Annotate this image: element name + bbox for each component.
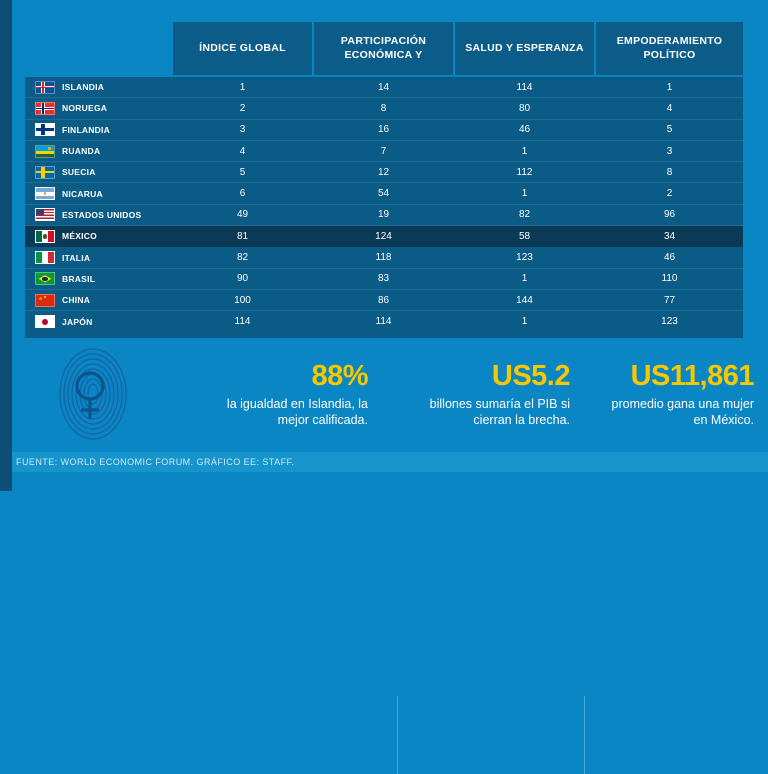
country-cell: SUECIA (35, 162, 96, 182)
country-cell: MÉXICO (35, 226, 97, 246)
value-empoderamiento-politico: 46 (596, 247, 743, 267)
country-name: ITALIA (62, 253, 90, 263)
value-indice-global: 100 (173, 290, 312, 310)
mexico-flag (35, 230, 55, 243)
value-indice-global: 5 (173, 162, 312, 182)
value-indice-global: 2 (173, 98, 312, 118)
value-indice-global: 81 (173, 226, 312, 246)
value-participacion-economica: 54 (314, 183, 453, 203)
value-empoderamiento-politico: 2 (596, 183, 743, 203)
value-salud-esperanza: 1 (455, 311, 594, 332)
value-salud-esperanza: 1 (455, 183, 594, 203)
country-name: ESTADOS UNIDOS (62, 210, 141, 220)
table-row[interactable]: NICARUA65412 (25, 183, 743, 204)
country-name: MÉXICO (62, 231, 97, 241)
country-cell: RUANDA (35, 141, 100, 161)
table-body: ISLANDIA1141141NORUEGA28804FINLANDIA3164… (25, 77, 743, 338)
value-empoderamiento-politico: 1 (596, 77, 743, 97)
value-participacion-economica: 7 (314, 141, 453, 161)
value-participacion-economica: 118 (314, 247, 453, 267)
column-header-indice-global: ÍNDICE GLOBAL (173, 22, 312, 75)
value-empoderamiento-politico: 34 (596, 226, 743, 246)
country-cell: JAPÓN (35, 311, 93, 332)
value-empoderamiento-politico: 123 (596, 311, 743, 332)
ranking-table: ÍNDICE GLOBAL PARTICIPACIÓN ECONÓMICA Y … (25, 22, 743, 338)
value-empoderamiento-politico: 8 (596, 162, 743, 182)
source-credit: FUENTE: WORLD ECONOMIC FORUM. GRÁFICO EE… (12, 457, 294, 467)
brazil-flag (35, 272, 55, 285)
value-participacion-economica: 8 (314, 98, 453, 118)
value-participacion-economica: 12 (314, 162, 453, 182)
left-accent-stripe (0, 0, 12, 491)
table-row[interactable]: MÉXICO811245834 (25, 226, 743, 247)
value-participacion-economica: 14 (314, 77, 453, 97)
table-row[interactable]: ESTADOS UNIDOS49198296 (25, 205, 743, 226)
table-row[interactable]: ITALIA8211812346 (25, 247, 743, 268)
table-row[interactable]: SUECIA5121128 (25, 162, 743, 183)
value-empoderamiento-politico: 5 (596, 120, 743, 140)
stat-divider-2 (584, 696, 585, 774)
value-salud-esperanza: 123 (455, 247, 594, 267)
value-salud-esperanza: 112 (455, 162, 594, 182)
country-name: RUANDA (62, 146, 100, 156)
value-indice-global: 114 (173, 311, 312, 332)
country-cell: ISLANDIA (35, 77, 104, 97)
value-indice-global: 3 (173, 120, 312, 140)
value-indice-global: 1 (173, 77, 312, 97)
table-row[interactable]: CHINA1008614477 (25, 290, 743, 311)
finland-flag (35, 123, 55, 136)
footer-bar: FUENTE: WORLD ECONOMIC FORUM. GRÁFICO EE… (12, 452, 768, 472)
infographic-root: ÍNDICE GLOBAL PARTICIPACIÓN ECONÓMICA Y … (0, 0, 768, 491)
value-salud-esperanza: 46 (455, 120, 594, 140)
country-cell: BRASIL (35, 269, 95, 289)
rwanda-flag (35, 145, 55, 158)
value-participacion-economica: 114 (314, 311, 453, 332)
value-salud-esperanza: 144 (455, 290, 594, 310)
country-name: CHINA (62, 295, 90, 305)
china-flag (35, 294, 55, 307)
stat-card-wage: US11,861 promedio gana una mujer en Méxi… (590, 352, 768, 438)
value-empoderamiento-politico: 110 (596, 269, 743, 289)
value-indice-global: 4 (173, 141, 312, 161)
table-row[interactable]: RUANDA4713 (25, 141, 743, 162)
country-cell: NORUEGA (35, 98, 107, 118)
country-cell: CHINA (35, 290, 90, 310)
value-empoderamiento-politico: 77 (596, 290, 743, 310)
table-row[interactable]: BRASIL90831110 (25, 269, 743, 290)
value-indice-global: 82 (173, 247, 312, 267)
stat-card-equality: 88% la igualdad en Islandia, la mejor ca… (192, 352, 382, 438)
table-row[interactable]: NORUEGA28804 (25, 98, 743, 119)
country-cell: NICARUA (35, 183, 103, 203)
country-cell: ITALIA (35, 247, 90, 267)
stat-value: US5.2 (492, 361, 570, 391)
value-salud-esperanza: 80 (455, 98, 594, 118)
country-name: FINLANDIA (62, 125, 110, 135)
value-participacion-economica: 83 (314, 269, 453, 289)
table-row[interactable]: ISLANDIA1141141 (25, 77, 743, 98)
nicaragua-flag (35, 187, 55, 200)
value-indice-global: 6 (173, 183, 312, 203)
value-empoderamiento-politico: 4 (596, 98, 743, 118)
stat-divider-1 (397, 696, 398, 774)
stat-value: US11,861 (631, 361, 754, 391)
value-participacion-economica: 16 (314, 120, 453, 140)
table-row[interactable]: JAPÓN1141141123 (25, 311, 743, 332)
value-participacion-economica: 19 (314, 205, 453, 225)
value-salud-esperanza: 1 (455, 269, 594, 289)
japan-flag (35, 315, 55, 328)
value-empoderamiento-politico: 96 (596, 205, 743, 225)
stat-value: 88% (311, 361, 368, 391)
table-header-row: ÍNDICE GLOBAL PARTICIPACIÓN ECONÓMICA Y … (25, 22, 743, 75)
norway-flag (35, 102, 55, 115)
iceland-flag (35, 81, 55, 94)
value-indice-global: 49 (173, 205, 312, 225)
stat-description: promedio gana una mujer en México. (604, 396, 754, 429)
stats-panel: 88% la igualdad en Islandia, la mejor ca… (12, 340, 768, 450)
value-participacion-economica: 86 (314, 290, 453, 310)
country-name: SUECIA (62, 167, 96, 177)
stat-description: la igualdad en Islandia, la mejor califi… (206, 396, 368, 429)
united-states-flag (35, 208, 55, 221)
column-header-empoderamiento-politico: EMPODERAMIENTO POLÍTICO (596, 22, 743, 75)
italy-flag (35, 251, 55, 264)
value-empoderamiento-politico: 3 (596, 141, 743, 161)
column-header-participacion-economica: PARTICIPACIÓN ECONÓMICA Y (314, 22, 453, 75)
value-salud-esperanza: 114 (455, 77, 594, 97)
fingerprint-female-symbol-icon (40, 344, 146, 444)
country-name: BRASIL (62, 274, 95, 284)
value-salud-esperanza: 1 (455, 141, 594, 161)
stat-card-gdp: US5.2 billones sumaría el PIB si cierran… (404, 352, 584, 438)
column-header-salud-esperanza: SALUD Y ESPERANZA (455, 22, 594, 75)
table-row[interactable]: FINLANDIA316465 (25, 120, 743, 141)
country-name: JAPÓN (62, 317, 93, 327)
value-salud-esperanza: 82 (455, 205, 594, 225)
value-participacion-economica: 124 (314, 226, 453, 246)
sweden-flag (35, 166, 55, 179)
stat-description: billones sumaría el PIB si cierran la br… (418, 396, 570, 429)
country-name: NICARUA (62, 189, 103, 199)
value-indice-global: 90 (173, 269, 312, 289)
value-salud-esperanza: 58 (455, 226, 594, 246)
country-cell: FINLANDIA (35, 120, 110, 140)
country-cell: ESTADOS UNIDOS (35, 205, 141, 225)
country-name: NORUEGA (62, 103, 107, 113)
country-name: ISLANDIA (62, 82, 104, 92)
